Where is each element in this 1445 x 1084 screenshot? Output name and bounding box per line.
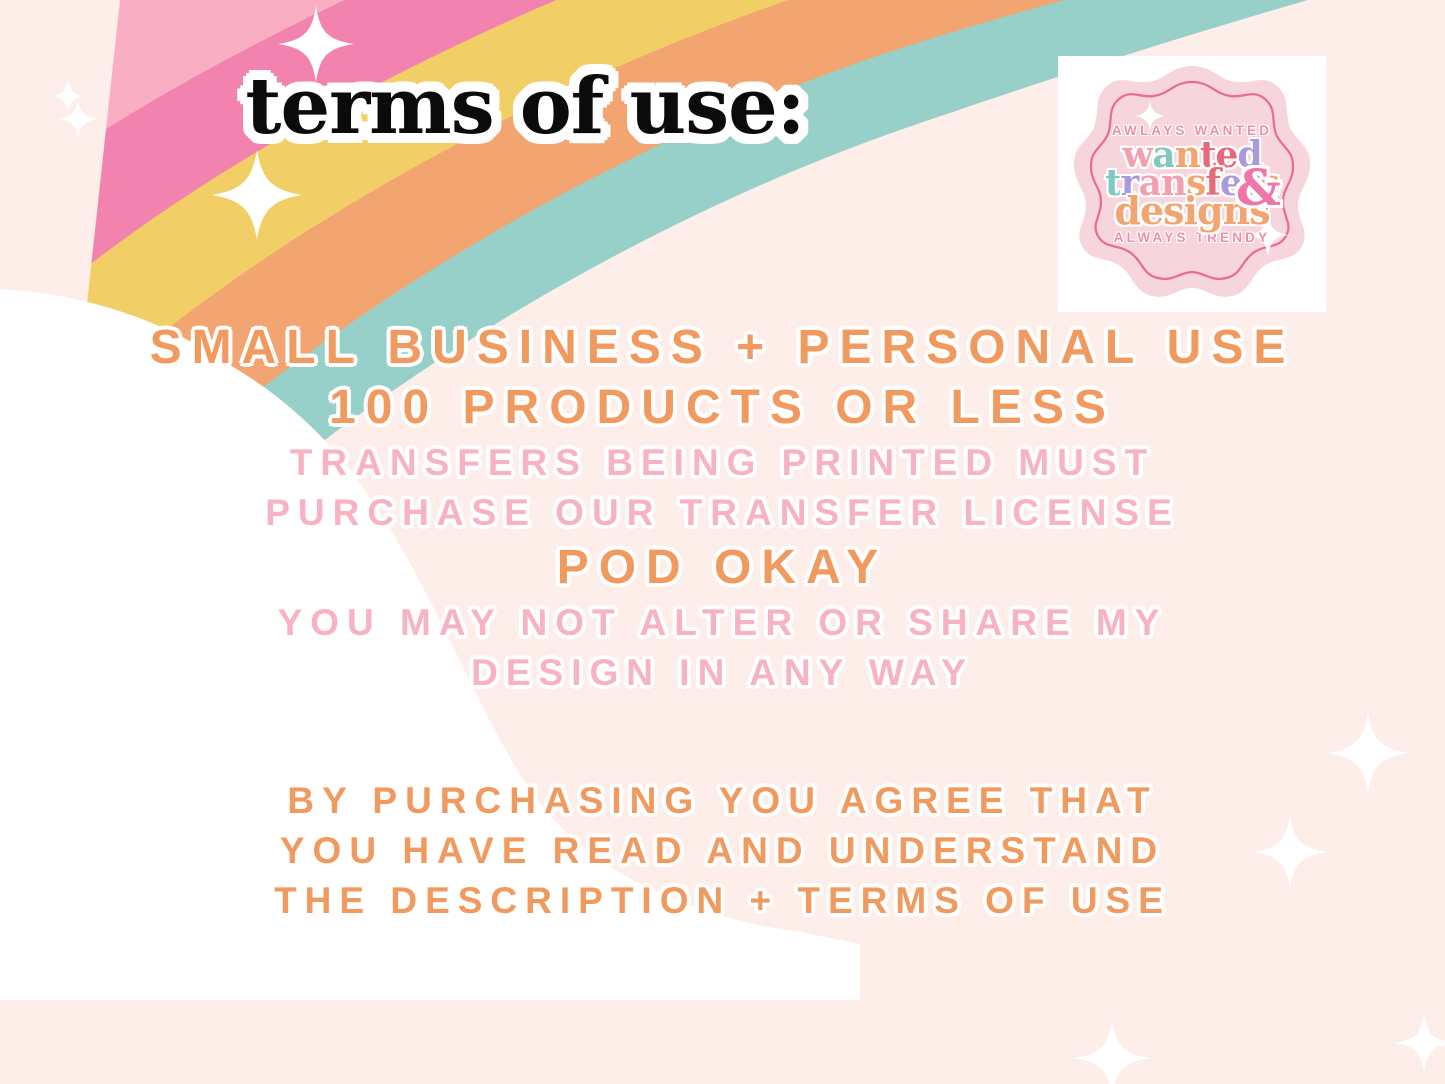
line-pod-okay: POD OKAY	[0, 538, 1445, 598]
line-100-products: 100 PRODUCTS OR LESS	[0, 378, 1445, 438]
logo-badge-shape	[1058, 56, 1326, 312]
terms-copy: SMALL BUSINESS + PERSONAL USE100 PRODUCT…	[0, 318, 1445, 926]
line-small-business: SMALL BUSINESS + PERSONAL USE	[0, 318, 1445, 378]
line-transfers-must: TRANSFERS BEING PRINTED MUST	[0, 438, 1445, 488]
line-read-understand: YOU HAVE READ AND UNDERSTAND	[0, 826, 1445, 876]
page-title-container: terms of use:	[0, 68, 1050, 146]
agreement-lines: BY PURCHASING YOU AGREE THATYOU HAVE REA…	[0, 776, 1445, 926]
badge-scallop-fill	[1074, 66, 1310, 297]
line-no-alter: YOU MAY NOT ALTER OR SHARE MY	[0, 598, 1445, 648]
line-purchase-license: PURCHASE OUR TRANSFER LICENSE	[0, 488, 1445, 538]
line-by-purchasing: BY PURCHASING YOU AGREE THAT	[0, 776, 1445, 826]
terms-lines: SMALL BUSINESS + PERSONAL USE100 PRODUCT…	[0, 318, 1445, 698]
poster-canvas: terms of use: AWLAYS WANTED wanted trans…	[0, 0, 1445, 1084]
brand-logo: AWLAYS WANTED wanted transfers designs &…	[1058, 56, 1326, 312]
copy-spacer	[0, 698, 1445, 776]
line-any-way: DESIGN IN ANY WAY	[0, 648, 1445, 698]
line-description: THE DESCRIPTION + TERMS OF USE	[0, 876, 1445, 926]
page-title: terms of use:	[245, 68, 804, 146]
